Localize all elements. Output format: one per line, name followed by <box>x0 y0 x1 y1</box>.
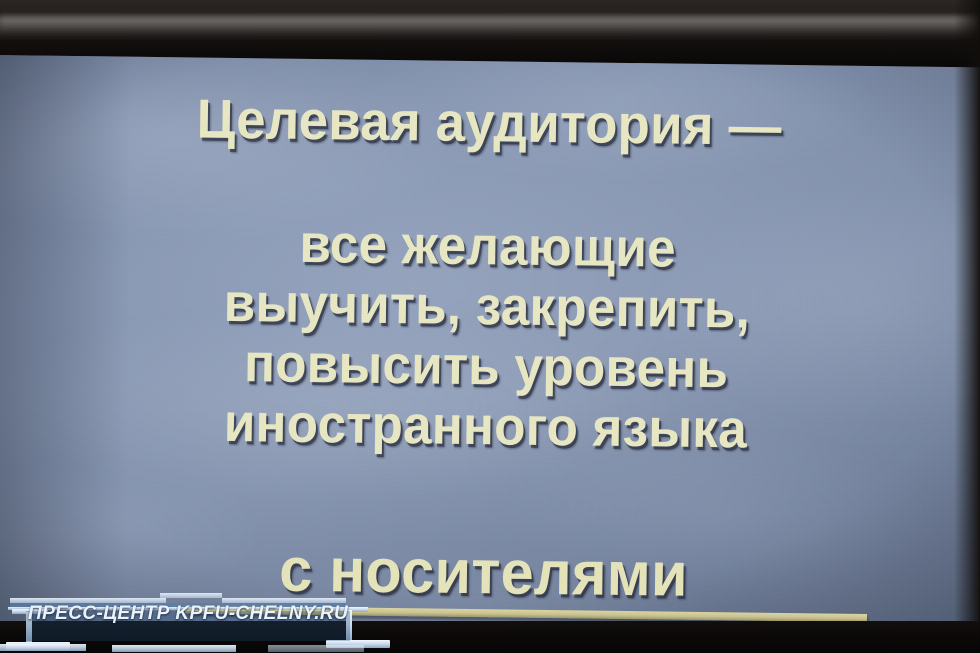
room-floor-band <box>0 621 980 653</box>
slide-final-line: с носителями <box>7 532 960 614</box>
projection-screen: Целевая аудитория — все желающие выучить… <box>0 55 980 650</box>
room-right-shadow <box>954 0 980 653</box>
slide-body-line-4: иностранного языка <box>14 390 957 462</box>
slide-title: Целевая аудитория — <box>13 85 966 159</box>
photograph-of-projected-slide: Целевая аудитория — все желающие выучить… <box>0 0 980 653</box>
slide-content: Целевая аудитория — все желающие выучить… <box>0 55 980 650</box>
ceiling-light-sheen <box>0 16 980 32</box>
